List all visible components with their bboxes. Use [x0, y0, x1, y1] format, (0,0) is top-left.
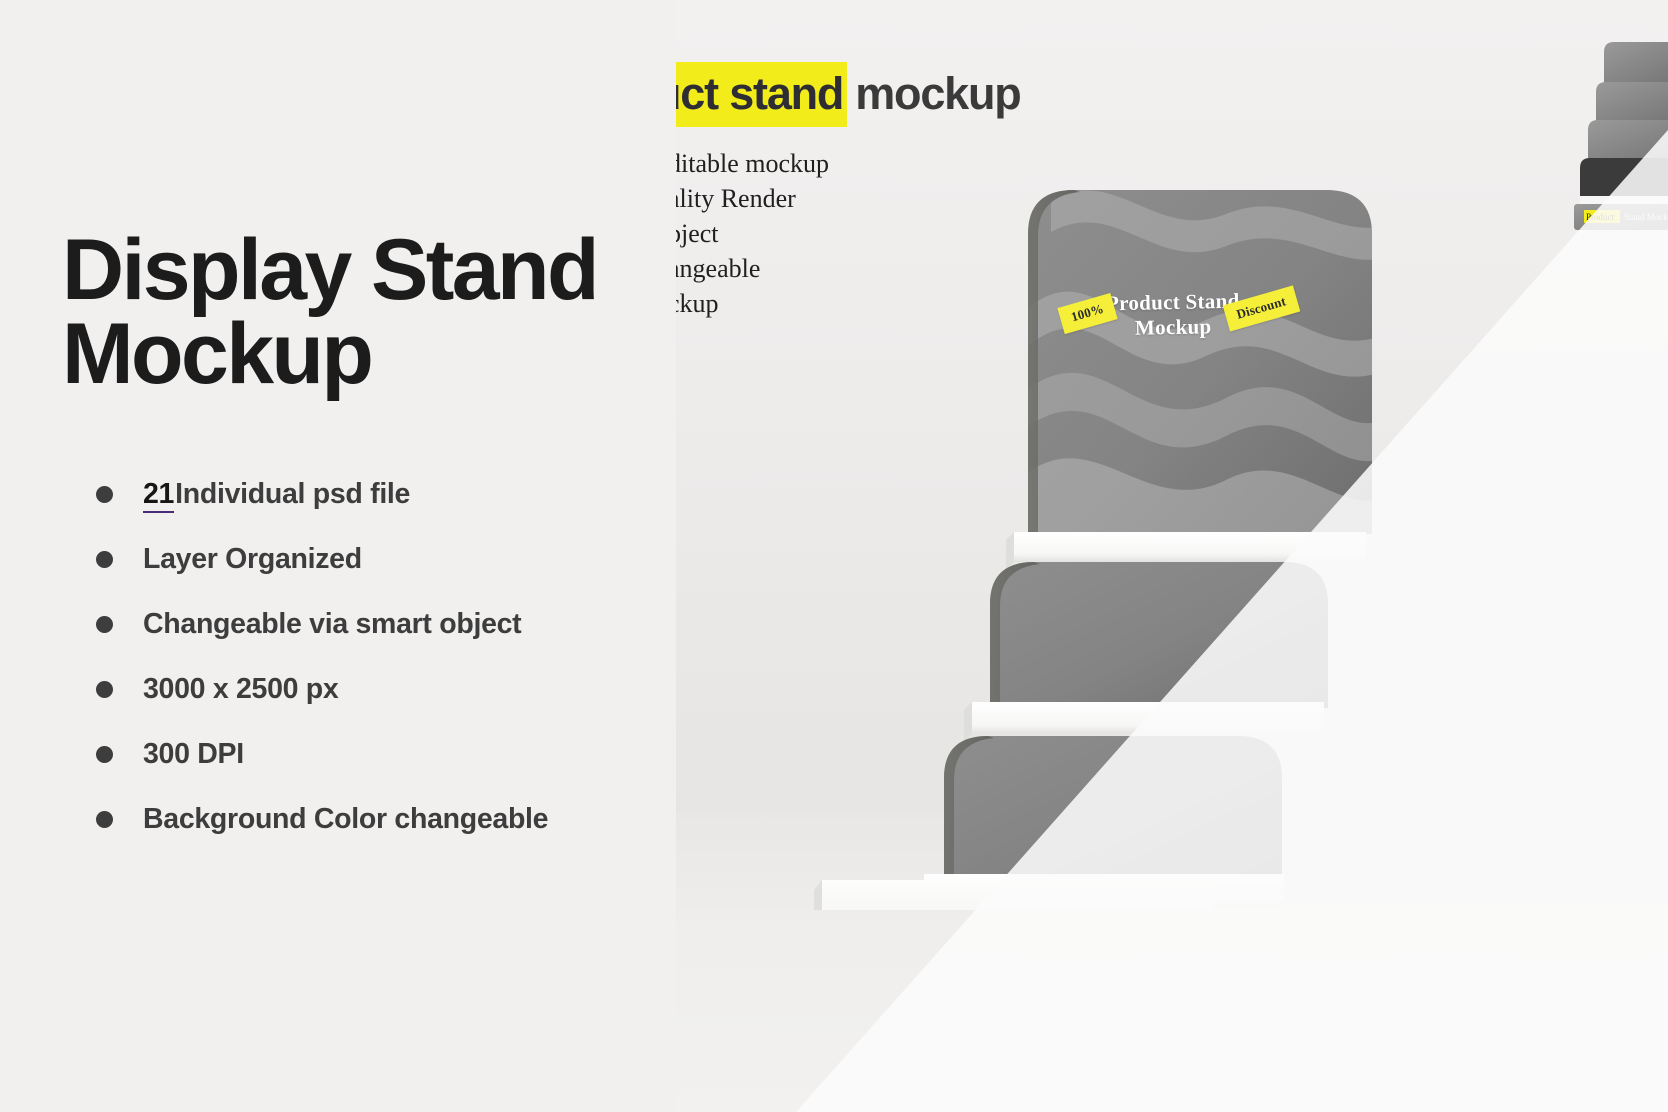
- feature-item-dimensions: 3000 x 2500 px: [96, 657, 676, 722]
- feature-label: Background Color changeable: [143, 803, 548, 836]
- mockup-presentation-page: Product Stand Mockup: [0, 0, 1668, 1112]
- bullet-dot-icon: [96, 811, 113, 828]
- feature-label: Layer Organized: [143, 543, 362, 576]
- scene-list-item: ality Render: [668, 181, 829, 216]
- feature-label: 300 DPI: [143, 738, 244, 771]
- headline-highlight: uct stand: [650, 62, 847, 127]
- feature-item-layer-organized: Layer Organized: [96, 527, 676, 592]
- bullet-dot-icon: [96, 486, 113, 503]
- scene-list-item: angeable: [668, 251, 829, 286]
- feature-item-background-color: Background Color changeable: [96, 787, 676, 852]
- bullet-dot-icon: [96, 746, 113, 763]
- bullet-dot-icon: [96, 551, 113, 568]
- page-title: Display Stand Mockup: [62, 228, 662, 397]
- bullet-dot-icon: [96, 681, 113, 698]
- feature-item-psd-files: 21Individual psd file: [96, 462, 676, 527]
- bullet-dot-icon: [96, 616, 113, 633]
- feature-label: Changeable via smart object: [143, 608, 521, 641]
- feature-label-text: Individual psd file: [175, 478, 410, 510]
- feature-label: 3000 x 2500 px: [143, 673, 338, 706]
- feature-label: 21Individual psd file: [143, 478, 410, 511]
- title-block: Display Stand Mockup: [62, 228, 662, 397]
- scene-list-item: bject: [668, 216, 829, 251]
- feature-item-dpi: 300 DPI: [96, 722, 676, 787]
- feature-list: 21Individual psd file Layer Organized Ch…: [96, 462, 676, 852]
- feature-item-smart-object: Changeable via smart object: [96, 592, 676, 657]
- scene-list-item: ditable mockup: [668, 146, 829, 181]
- mini-stand-label-plain: Stand Mockup: [1624, 212, 1668, 222]
- scene-feature-list: ditable mockup ality Render bject angeab…: [668, 146, 829, 321]
- scene-headline: uct standmockup: [650, 70, 1021, 117]
- headline-plain: mockup: [855, 68, 1020, 119]
- feature-lead-count: 21: [143, 478, 174, 513]
- secondary-display-stand: Product Stand Mockup: [1508, 40, 1668, 240]
- mini-stand-label-highlight: Product: [1586, 212, 1614, 222]
- scene-list-item: ckup: [668, 286, 829, 321]
- info-panel: Display Stand Mockup 21Individual psd fi…: [0, 0, 676, 1112]
